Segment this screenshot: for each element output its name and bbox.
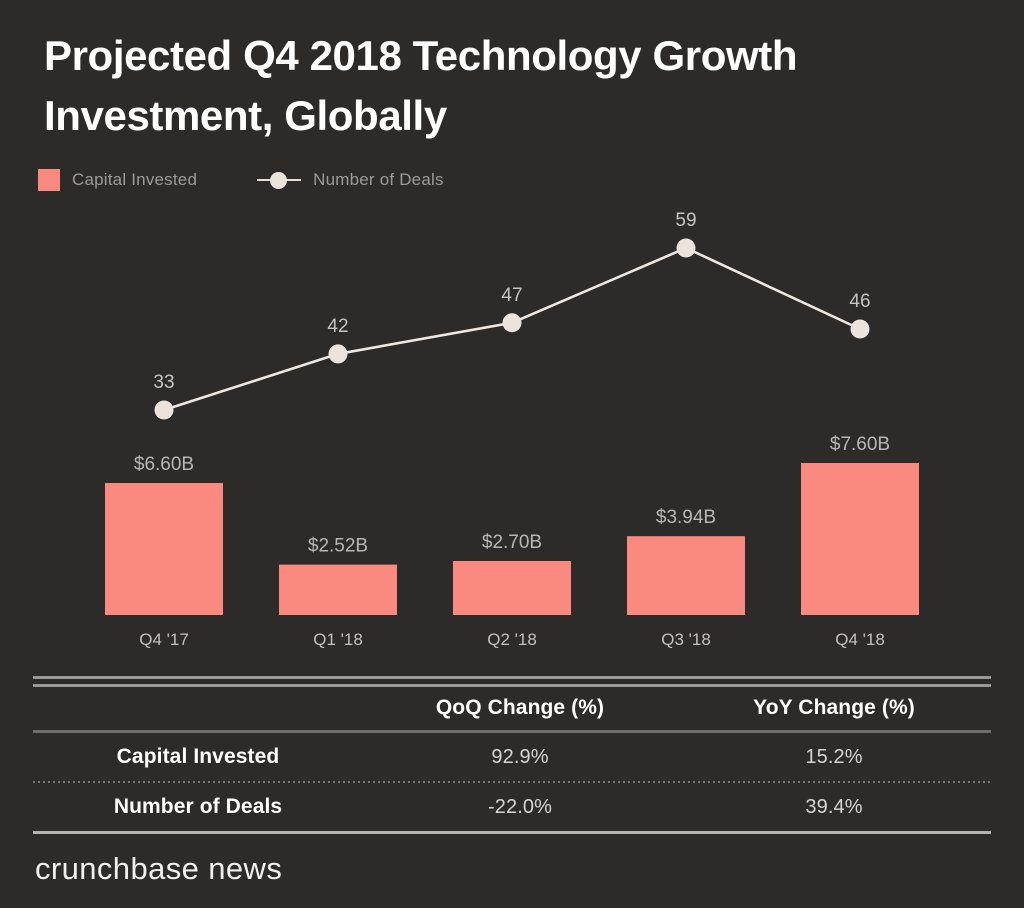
bar-1 [105, 483, 223, 615]
line-point-3 [503, 313, 522, 332]
summary-table: QoQ Change (%) YoY Change (%) Capital In… [33, 676, 991, 834]
table-row-label-number-of-deals: Number of Deals [33, 795, 363, 819]
line-point-5 [851, 320, 870, 339]
x-axis-label-4: Q3 '18 [661, 630, 711, 649]
line-point-4 [677, 239, 696, 258]
x-axis-label-3: Q2 '18 [487, 630, 537, 649]
brand-logo: crunchbase news [35, 851, 282, 887]
table-cell-yoy-number-of-deals: 39.4% [677, 796, 991, 819]
bar-2 [279, 565, 397, 615]
line-value-label-1: 33 [153, 372, 174, 393]
line-value-label-2: 42 [327, 316, 348, 337]
bar-3 [453, 561, 571, 615]
chart-plot-area: $6.60B$2.52B$2.70B$3.94B$7.60B3342475946… [0, 0, 1024, 660]
line-value-label-3: 47 [501, 285, 522, 306]
table-header-row: QoQ Change (%) YoY Change (%) [33, 686, 991, 730]
bar-value-label-4: $3.94B [656, 507, 716, 528]
line-value-label-4: 59 [675, 210, 696, 231]
table-header-yoy: YoY Change (%) [677, 696, 991, 720]
x-axis-label-2: Q1 '18 [313, 630, 363, 649]
x-axis-label-5: Q4 '18 [835, 630, 885, 649]
bar-value-label-5: $7.60B [830, 434, 890, 455]
line-value-label-5: 46 [849, 291, 870, 312]
bar-value-label-1: $6.60B [134, 454, 194, 475]
table-header-qoq: QoQ Change (%) [363, 696, 677, 720]
table-row: Capital Invested 92.9% 15.2% [33, 733, 991, 781]
line-point-2 [329, 344, 348, 363]
table-cell-qoq-number-of-deals: -22.0% [363, 796, 677, 819]
line-point-1 [155, 401, 174, 420]
table-rule-lower [33, 684, 991, 687]
chart-canvas: Projected Q4 2018 Technology Growth Inve… [0, 0, 1024, 908]
x-axis-label-1: Q4 '17 [139, 630, 189, 649]
bar-4 [627, 536, 745, 615]
table-cell-yoy-capital-invested: 15.2% [677, 746, 991, 769]
table-row-label-capital-invested: Capital Invested [33, 745, 363, 769]
table-row: Number of Deals -22.0% 39.4% [33, 783, 991, 831]
bar-5 [801, 463, 919, 615]
table-rule-upper [33, 676, 991, 679]
chart-svg: $6.60B$2.52B$2.70B$3.94B$7.60B3342475946… [0, 0, 1024, 660]
table-bottom-rule [33, 831, 991, 834]
bar-value-label-2: $2.52B [308, 536, 368, 557]
bar-value-label-3: $2.70B [482, 532, 542, 553]
table-cell-qoq-capital-invested: 92.9% [363, 746, 677, 769]
table-top-double-rule [33, 676, 991, 686]
